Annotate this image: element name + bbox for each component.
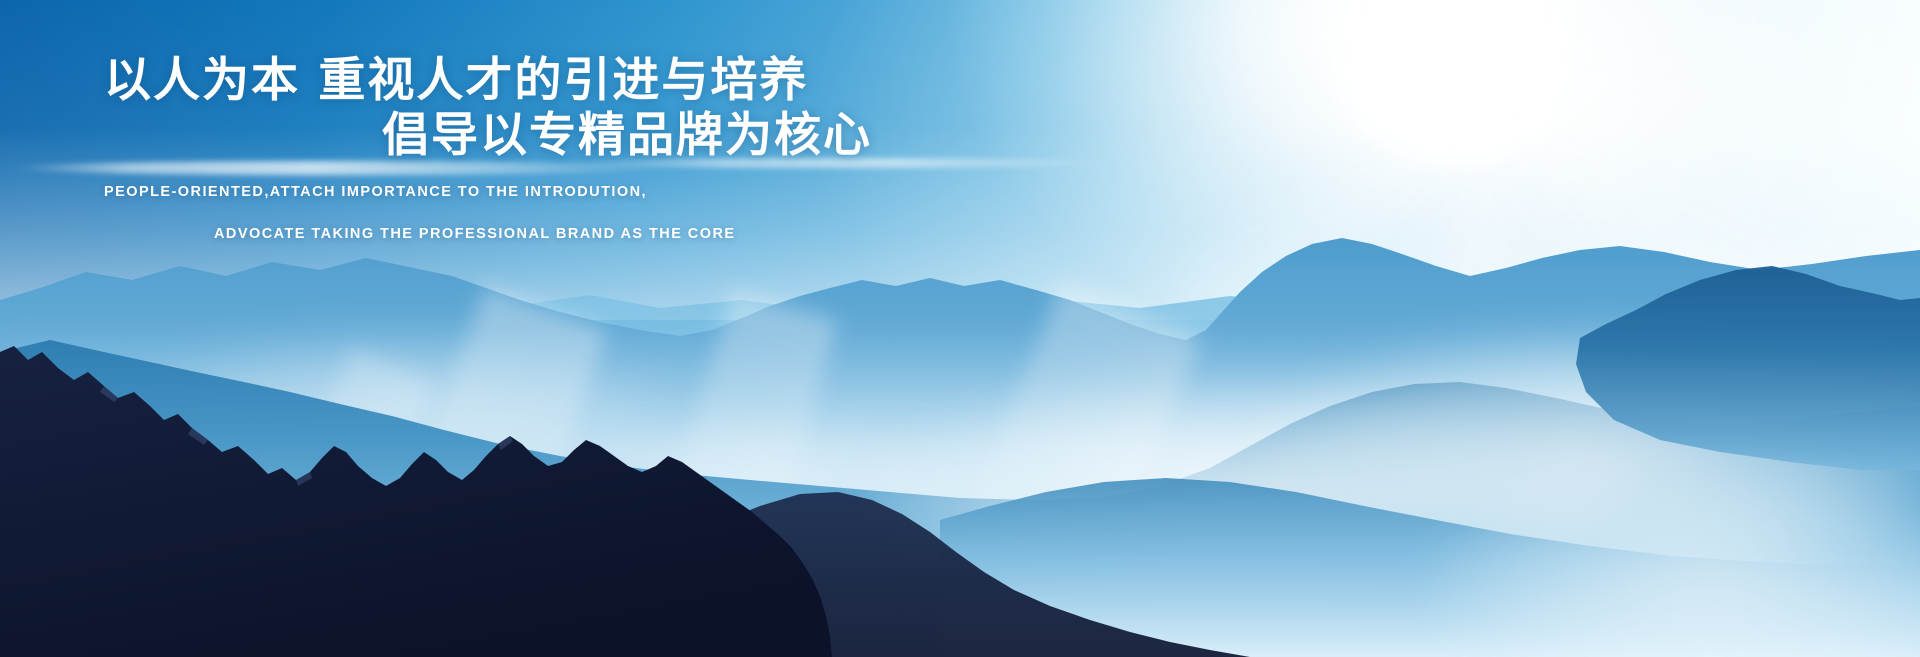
subhead-line-1: PEOPLE-ORIENTED,ATTACH IMPORTANCE TO THE… xyxy=(104,181,960,204)
banner-copy: 以人为本 重视人才的引进与培养 倡导以专精品牌为核心 PEOPLE-ORIENT… xyxy=(0,0,960,246)
hero-banner: 以人为本 重视人才的引进与培养 倡导以专精品牌为核心 PEOPLE-ORIENT… xyxy=(0,0,1920,657)
headline-line-2: 倡导以专精品牌为核心 xyxy=(104,109,960,164)
subhead-line-2: ADVOCATE TAKING THE PROFESSIONAL BRAND A… xyxy=(104,223,960,246)
headline-line-1: 以人为本 重视人才的引进与培养 xyxy=(104,54,960,109)
